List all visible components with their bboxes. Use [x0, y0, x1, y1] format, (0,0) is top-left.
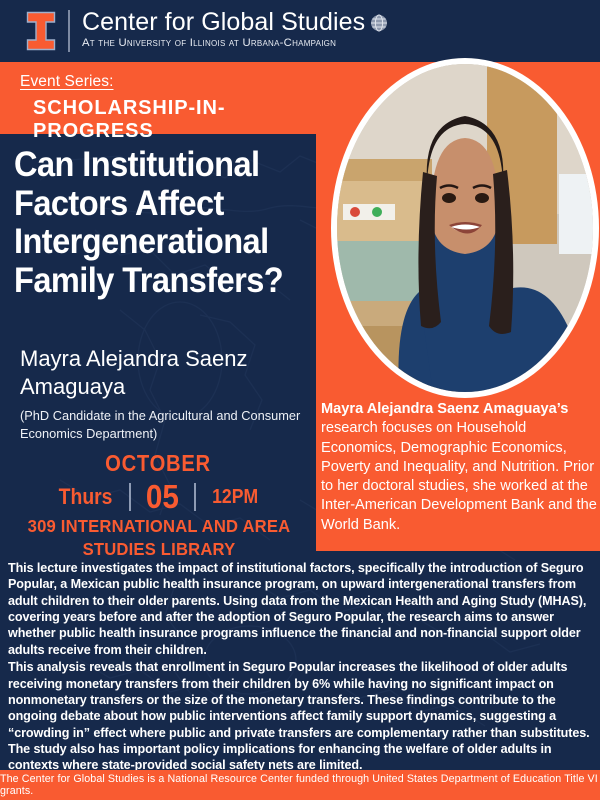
brand-block: Center for Global Studies At the Univers… — [82, 8, 388, 49]
speaker-name: Mayra Alejandra Saenz Amaguaya — [20, 345, 315, 401]
brand-subtitle: At the University of Illinois at Urbana-… — [82, 37, 388, 49]
logo-divider — [68, 10, 70, 52]
event-poster: Center for Global Studies At the Univers… — [0, 0, 600, 800]
event-location: 309 INTERNATIONAL AND AREA STUDIES LIBRA… — [16, 515, 303, 562]
event-series-name: SCHOLARSHIP-IN-PROGRESS — [33, 97, 324, 143]
speaker-bio: Mayra Alejandra Saenz Amaguaya’s researc… — [321, 400, 597, 535]
speaker-bio-body: research focuses on Household Economics,… — [321, 420, 597, 532]
event-month: OCTOBER — [19, 450, 297, 477]
page-title: Can Institutional Factors Affect Interge… — [14, 146, 293, 300]
speaker-bio-lead: Mayra Alejandra Saenz Amaguaya’s — [321, 401, 568, 417]
illinois-block-i-logo — [26, 11, 56, 51]
brand-title: Center for Global Studies — [82, 8, 388, 36]
date-separator-1 — [129, 483, 131, 511]
date-separator-2 — [194, 483, 196, 511]
footer-text: The Center for Global Studies is a Natio… — [0, 773, 600, 797]
speaker-role: (PhD Candidate in the Agricultural and C… — [20, 407, 320, 442]
abstract-paragraph-1: This lecture investigates the impact of … — [8, 560, 594, 658]
event-weekday: Thurs — [59, 484, 113, 510]
event-day-number: 05 — [146, 478, 179, 516]
event-time: 12PM — [212, 486, 258, 509]
event-series-banner: Event Series: SCHOLARSHIP-IN-PROGRESS — [0, 62, 324, 134]
abstract-paragraph-2: This analysis reveals that enrollment in… — [8, 659, 594, 774]
abstract-section: This lecture investigates the impact of … — [8, 560, 594, 774]
poster-header: Center for Global Studies At the Univers… — [0, 0, 600, 62]
event-date-row: Thurs 05 12PM — [0, 479, 316, 515]
event-series-label: Event Series: — [20, 73, 113, 91]
globe-icon — [370, 14, 388, 32]
brand-title-text: Center for Global Studies — [82, 8, 365, 36]
poster-footer: The Center for Global Studies is a Natio… — [0, 770, 600, 800]
